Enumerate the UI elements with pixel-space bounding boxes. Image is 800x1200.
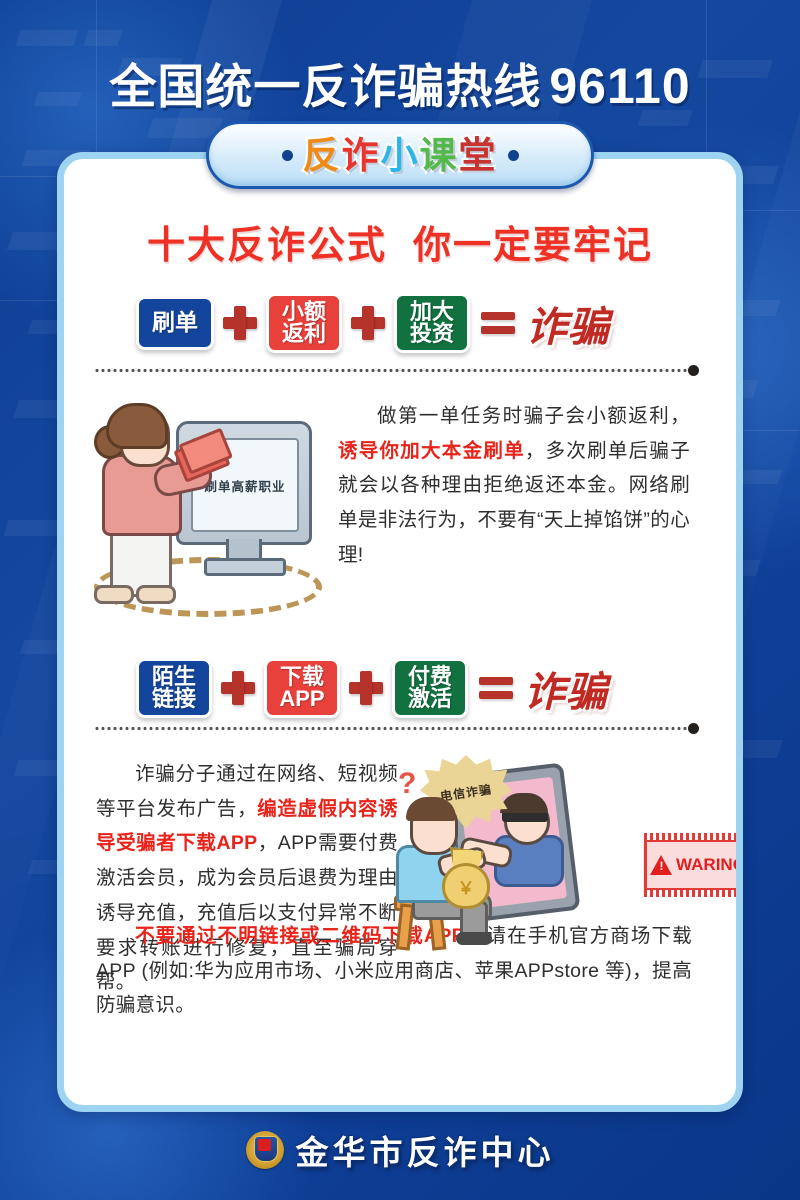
- content-card: 十大反诈公式你一定要牢记 刷单 小额 返利 加大 投资 诈骗 刷单高薪职: [57, 152, 743, 1112]
- paragraph-1-highlight: 诱导你加大本金刷单: [338, 440, 525, 462]
- formula-1-tag-1: 刷单: [136, 296, 214, 349]
- question-mark-icon: ?: [398, 767, 416, 801]
- monitor-screen-text: 刷单高薪职业: [204, 476, 285, 495]
- formula-1-result: 诈骗: [526, 293, 610, 353]
- formula-2-tag-3-line1: 付费: [408, 666, 452, 688]
- formula-1-tag-3-line2: 投资: [410, 323, 454, 345]
- section-title-left: 十大反诈公式: [147, 225, 387, 267]
- formula-2-tag-2-line2: APP: [279, 688, 324, 710]
- badge-char-2: 诈: [342, 135, 381, 176]
- formula-2-tag-3: 付费 激活: [392, 658, 468, 719]
- emblem-star: [258, 1139, 271, 1151]
- plus-icon: [223, 306, 257, 340]
- formula-1-tag-2: 小额 返利: [266, 293, 342, 354]
- divider-1: [94, 369, 690, 372]
- hotline-number: 96110: [549, 58, 690, 114]
- formula-2-tag-2: 下载 APP: [264, 658, 340, 719]
- anti-fraud-poster: 全国统一反诈骗热线96110 反诈小课堂 十大反诈公式你一定要牢记 刷单 小额 …: [0, 0, 800, 1200]
- victim-shoe: [456, 932, 492, 945]
- badge-char-1: 反: [303, 135, 342, 176]
- formula-1-tag-2-line1: 小额: [282, 301, 326, 323]
- formula-1: 刷单 小额 返利 加大 投资 诈骗: [136, 294, 610, 352]
- formula-2-tag-2-line1: 下载: [280, 666, 324, 688]
- lesson-badge: 反诈小课堂: [206, 121, 594, 189]
- plus-icon: [349, 671, 383, 705]
- badge-dot-left: [282, 150, 293, 161]
- warning-exclamation: !: [650, 860, 673, 872]
- plus-icon: [351, 306, 385, 340]
- formula-2: 陌生 链接 下载 APP 付费 激活 诈骗: [136, 659, 608, 717]
- money-bag-symbol: ￥: [458, 874, 475, 899]
- footer: 金华市反诈中心: [0, 1126, 800, 1174]
- badge-text: 反诈小课堂: [303, 137, 498, 174]
- illustration-woman-brushing-orders: 刷单高薪职业: [76, 399, 326, 604]
- badge-char-5: 堂: [459, 135, 498, 176]
- divider-2: [94, 727, 690, 730]
- money-bag-icon: ￥: [442, 863, 490, 909]
- police-emblem-icon: [246, 1131, 284, 1169]
- warning-sign: ! WARING: [644, 839, 743, 891]
- formula-2-result: 诈骗: [524, 658, 608, 718]
- divider-end-dot: [688, 723, 699, 734]
- equals-icon: [479, 675, 513, 701]
- formula-1-tag-3-line1: 加大: [410, 301, 454, 323]
- section-title-right: 你一定要牢记: [413, 225, 653, 267]
- hotline-title: 全国统一反诈骗热线: [109, 60, 541, 113]
- formula-1-tag-2-line2: 返利: [282, 323, 326, 345]
- divider-end-dot: [688, 365, 699, 376]
- formula-2-tag-1: 陌生 链接: [136, 658, 212, 719]
- hotline-headline: 全国统一反诈骗热线96110: [0, 48, 800, 117]
- badge-char-3: 小: [381, 135, 420, 176]
- paragraph-1-part1: 做第一单任务时骗子会小额返利，: [377, 405, 690, 427]
- formula-2-tag-1-line2: 链接: [152, 688, 196, 710]
- woman-hair: [106, 403, 168, 449]
- formula-2-tag-3-line2: 激活: [408, 688, 452, 710]
- paragraph-1: 做第一单任务时骗子会小额返利，诱导你加大本金刷单，多次刷单后骗子就会以各种理由拒…: [338, 399, 690, 573]
- formula-1-tag-3: 加大 投资: [394, 293, 470, 354]
- woman-shoe-left: [94, 585, 134, 604]
- footer-org-name: 金华市反诈中心: [296, 1126, 555, 1174]
- badge-char-4: 课: [420, 135, 459, 176]
- woman-shoe-right: [136, 585, 176, 604]
- paragraph-3: 不要通过不明链接或二维码下载APP，请在手机官方商场下载APP (例如:华为应用…: [96, 919, 692, 1023]
- warning-triangle-icon: !: [650, 855, 673, 875]
- monitor-base: [204, 558, 286, 576]
- badge-dot-right: [508, 150, 519, 161]
- paragraph-3-highlight: 不要通过不明链接或二维码下载APP: [135, 925, 465, 947]
- illustration-victim-and-scammer: 电信诈骗 ? ￥: [394, 759, 594, 944]
- warning-label: WARING: [676, 855, 743, 875]
- plus-icon: [221, 671, 255, 705]
- equals-icon: [481, 310, 515, 336]
- formula-2-tag-1-line1: 陌生: [152, 666, 196, 688]
- section-title: 十大反诈公式你一定要牢记: [64, 214, 736, 269]
